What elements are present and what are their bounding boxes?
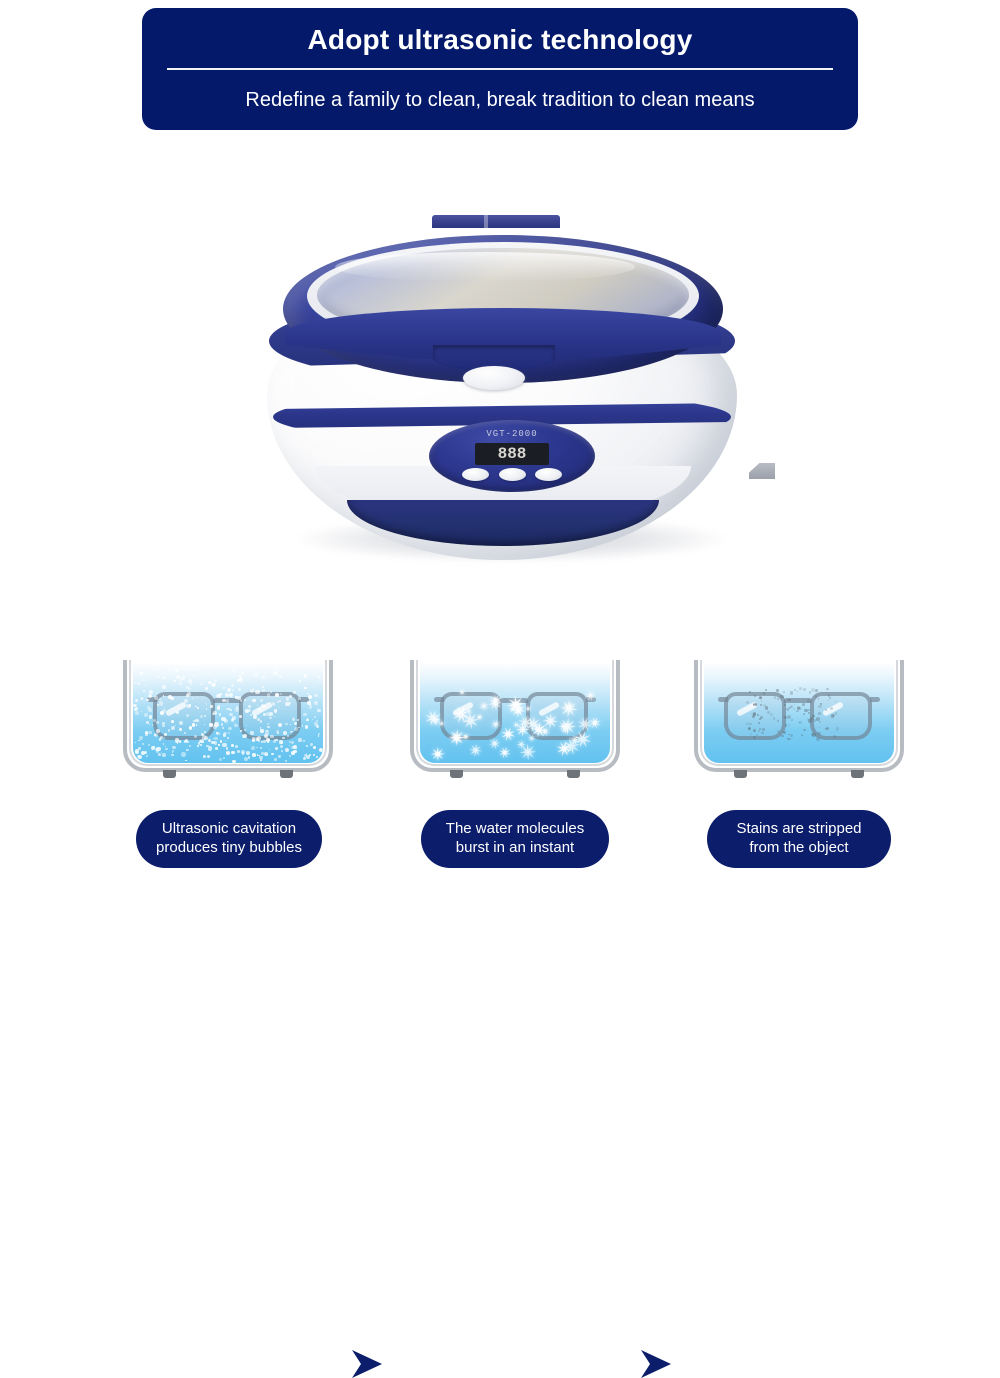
bubble [182, 676, 186, 680]
bubble [304, 674, 308, 678]
bubble [264, 752, 268, 756]
bubble [171, 726, 175, 730]
bubble [250, 714, 252, 716]
bubble [187, 749, 189, 751]
bubble [194, 735, 197, 738]
bubble [257, 705, 259, 707]
bubble [169, 669, 172, 672]
bubble [277, 701, 279, 703]
bubble [226, 751, 230, 755]
bubble [262, 676, 265, 679]
process-illustration-step-2: ✴✴✴✴✴✴✴✴✴✴✴✴✴✴✴✴✴✴✴✴✴✴✴✴✴✴✴✴✴✴✴✴✴✴✴✴✴✴✴✴… [410, 660, 620, 782]
bubble [171, 697, 174, 700]
bubble [171, 754, 173, 756]
panel-button-3[interactable] [535, 468, 562, 481]
bubble [163, 737, 165, 739]
stain-speck [836, 730, 837, 731]
bubble [193, 675, 194, 676]
bubble [165, 746, 166, 747]
stain-speck [794, 689, 796, 691]
bubble [159, 738, 161, 740]
bubble [135, 711, 139, 715]
stain-speck [811, 733, 814, 736]
bubble [200, 715, 203, 718]
stain-speck [808, 719, 811, 722]
bubble [297, 719, 299, 721]
bubble [226, 747, 228, 749]
bubble [253, 715, 257, 719]
stain-speck [755, 704, 756, 705]
stain-speck [753, 736, 756, 739]
control-panel: VGT-2000 888 [429, 420, 595, 492]
bubble [212, 683, 215, 686]
bubble [206, 704, 207, 705]
bubble [252, 699, 255, 702]
bubble [159, 699, 160, 700]
bubble [225, 740, 226, 741]
bubble [313, 686, 314, 687]
bubble [283, 731, 287, 735]
product-image-area: VGT-2000 888 [0, 150, 1000, 620]
tank-feet [694, 770, 904, 780]
bubble [136, 760, 140, 764]
bubble [246, 751, 250, 755]
bubble [235, 696, 238, 699]
sparkle-icon: ✴ [457, 686, 466, 696]
bubble [143, 679, 145, 681]
bubble [135, 699, 138, 702]
bubble [138, 747, 141, 750]
bubble [248, 756, 251, 759]
bubble [179, 740, 181, 742]
bubble [306, 753, 307, 754]
tank-feet [123, 770, 333, 780]
caption-line-2: produces tiny bubbles [156, 839, 302, 856]
bubble [305, 725, 308, 728]
bubble [224, 720, 226, 722]
stain-speck [748, 727, 751, 730]
bubble [275, 747, 278, 750]
bubble [267, 693, 271, 697]
bubble [277, 732, 279, 734]
stain-speck [765, 706, 769, 710]
stain-speck [757, 714, 759, 716]
product-marketing-page: Adopt ultrasonic technology Redefine a f… [0, 0, 1000, 919]
header-banner: Adopt ultrasonic technology Redefine a f… [142, 8, 858, 130]
stain-speck [783, 731, 786, 734]
bubble [278, 707, 279, 708]
model-label: VGT-2000 [429, 429, 595, 439]
tank-foot-right [851, 770, 864, 778]
caption-line-1: Stains are stripped [736, 820, 861, 837]
stain-speck [759, 697, 762, 700]
bubble [214, 722, 218, 726]
bubble [214, 741, 218, 745]
bubble [157, 676, 159, 678]
stain-speck [815, 695, 817, 697]
bubble [141, 697, 143, 699]
panel-button-1[interactable] [462, 468, 489, 481]
bubble [217, 706, 220, 709]
bubble [208, 681, 211, 684]
step-caption-1-text: Ultrasonic cavitation produces tiny bubb… [156, 820, 302, 858]
bubble [254, 673, 258, 677]
bubble [197, 707, 199, 709]
bubble [162, 677, 164, 679]
bubble [175, 738, 179, 742]
bubble [245, 709, 249, 713]
stain-speck [762, 728, 765, 731]
bubble [151, 746, 155, 750]
bubble [227, 737, 229, 739]
stain-speck [776, 689, 779, 692]
bubble [291, 751, 295, 755]
stain-speck [816, 737, 819, 740]
bubble [179, 728, 182, 731]
stain-speck [760, 704, 762, 706]
bubble [269, 717, 272, 720]
bubble [285, 723, 287, 725]
bubble [219, 758, 221, 760]
bubble [252, 753, 256, 757]
bubble [159, 701, 163, 705]
bubble [206, 708, 207, 709]
panel-button-2[interactable] [499, 468, 526, 481]
bubble [314, 722, 318, 726]
stain-speck [787, 709, 789, 711]
bubble [274, 758, 277, 761]
sparkle-icon: ✴ [562, 697, 576, 713]
stain-speck [797, 691, 798, 692]
sparkle-icon: ✴ [582, 685, 600, 704]
stain-speck [815, 689, 818, 692]
bubble [278, 755, 282, 759]
tank-foot-right [280, 770, 293, 778]
bubble [153, 669, 154, 670]
stain-speck [787, 715, 791, 719]
bubble [216, 732, 218, 734]
bubble [171, 720, 174, 723]
bubble [260, 699, 263, 702]
bubble [253, 688, 254, 689]
bubble [189, 745, 191, 747]
bubble [148, 731, 151, 734]
tank-foot-left [734, 770, 747, 778]
bubble [223, 733, 227, 737]
bubble [209, 723, 213, 727]
bubble [266, 712, 270, 716]
bubble [252, 739, 255, 742]
bubble [279, 675, 282, 678]
bubble [162, 685, 166, 689]
bubble [237, 750, 240, 753]
bubble [189, 727, 192, 730]
stain-speck [828, 694, 830, 696]
bubble [256, 747, 257, 748]
stain-speck [773, 717, 776, 720]
stain-speck [830, 707, 833, 710]
stain-speck [835, 701, 836, 702]
stain-speck [746, 701, 749, 704]
bubble [222, 699, 226, 703]
tank-water: ✴✴✴✴✴✴✴✴✴✴✴✴✴✴✴✴✴✴✴✴✴✴✴✴✴✴✴✴✴✴✴✴✴✴✴✴✴✴✴✴… [420, 662, 610, 763]
bubble [228, 732, 230, 734]
bubble [258, 714, 259, 715]
stain-speck [750, 733, 752, 735]
stain-speck [828, 700, 829, 701]
bubble [208, 739, 211, 742]
bubble [220, 693, 223, 696]
tank-water [704, 662, 894, 763]
bubble [232, 669, 235, 672]
caption-line-1: The water molecules [446, 820, 584, 837]
bubble [290, 724, 291, 725]
bubble [285, 748, 289, 752]
bubble [188, 679, 192, 683]
bubble [294, 722, 297, 725]
bubble [289, 695, 292, 698]
bubble [223, 687, 224, 688]
bubble [165, 748, 168, 751]
bubble [145, 685, 147, 687]
bubble [229, 693, 233, 697]
bubble [317, 707, 318, 708]
step-caption-3-text: Stains are stripped from the object [736, 820, 861, 858]
bubble [319, 697, 320, 698]
bubble [232, 716, 236, 720]
bubble [228, 727, 231, 730]
stain-speck [793, 708, 795, 710]
stain-speck [829, 697, 831, 699]
tank-water [133, 662, 323, 763]
bubble [299, 680, 301, 682]
bubble [298, 697, 301, 700]
bubble [227, 688, 231, 692]
bubble [270, 691, 272, 693]
bubble [290, 731, 292, 733]
stain-speck [774, 696, 777, 699]
stain-speck [836, 727, 839, 730]
bubble [314, 701, 317, 704]
stain-speck [826, 688, 828, 690]
bubble [184, 699, 188, 703]
bubble [218, 744, 219, 745]
bubble [163, 743, 164, 744]
bubble [304, 687, 306, 689]
bubble [269, 749, 270, 750]
bubble [287, 735, 289, 737]
stain-speck [821, 692, 822, 693]
bubble [200, 744, 202, 746]
stain-speck [781, 735, 784, 738]
stain-speck [758, 722, 760, 724]
bubble [238, 688, 241, 691]
bubble [289, 745, 290, 746]
bubble [192, 698, 193, 699]
bubble [137, 682, 140, 685]
bubble [244, 699, 246, 701]
bubble [313, 746, 316, 749]
bubble [278, 723, 282, 727]
bubble [164, 733, 167, 736]
stain-speck [749, 691, 750, 692]
stain-speck [791, 706, 792, 707]
bubble [207, 755, 211, 759]
lid-window-gloss [335, 252, 635, 282]
stain-speck [794, 704, 795, 705]
bubble [221, 723, 224, 726]
arrow-right-icon [352, 1350, 382, 1378]
bubble [279, 740, 283, 744]
bubble [285, 702, 289, 706]
bubble [314, 694, 317, 697]
bubble [192, 723, 195, 726]
bubble [259, 756, 263, 760]
bubble [186, 714, 189, 717]
bubble [231, 744, 234, 747]
drain-spout [749, 463, 775, 479]
bubble [148, 744, 151, 747]
stain-speck [749, 723, 751, 725]
process-illustration-step-3 [694, 660, 904, 782]
bubble [146, 699, 148, 701]
stain-speck [810, 717, 812, 719]
bubble [163, 695, 165, 697]
bubble [271, 753, 273, 755]
bubble [160, 711, 164, 715]
bubble [248, 705, 251, 708]
bubble [260, 720, 263, 723]
bubble [200, 739, 204, 743]
stain-speck [826, 727, 829, 730]
tank-foot-right [567, 770, 580, 778]
bubble [134, 682, 136, 684]
bubble [179, 709, 181, 711]
stain-speck [783, 691, 785, 693]
bubble [280, 745, 283, 748]
bubble [164, 707, 165, 708]
bubble [235, 745, 238, 748]
bubble [289, 755, 291, 757]
bubble [204, 724, 205, 725]
stain-speck [820, 703, 821, 704]
bubble [274, 716, 275, 717]
bubble [162, 725, 164, 727]
bubble [272, 702, 276, 706]
bubble [250, 689, 254, 693]
bubble [157, 704, 159, 706]
stain-speck [790, 691, 793, 694]
caption-line-2: from the object [749, 839, 848, 856]
bubble [156, 729, 160, 733]
stain-speck [790, 734, 793, 737]
stain-speck [788, 724, 791, 727]
bubble [152, 724, 153, 725]
bubble [298, 738, 302, 742]
bubble [203, 755, 207, 759]
bubble [280, 693, 282, 695]
stain-speck [789, 699, 791, 701]
bubble [263, 705, 266, 708]
loosened-stains-overlay [704, 662, 894, 763]
bubble [286, 697, 289, 700]
bubble [292, 718, 295, 721]
stain-speck [799, 687, 802, 690]
bubble [260, 729, 263, 732]
arrow-right-icon [641, 1350, 671, 1378]
stain-speck [803, 688, 806, 691]
bubble [318, 735, 320, 737]
bubble [319, 748, 323, 752]
bubble [204, 736, 208, 740]
bubble [303, 740, 305, 742]
stain-speck [818, 705, 821, 708]
bubble [185, 760, 186, 761]
bubble [279, 700, 281, 702]
bubble [200, 683, 202, 685]
bubble [204, 715, 206, 717]
bubble [273, 740, 276, 743]
ultrasonic-cleaner-illustration: VGT-2000 888 [255, 180, 765, 580]
stain-speck [785, 724, 788, 727]
bubble [260, 759, 262, 761]
bubble [196, 690, 197, 691]
bubble [267, 741, 269, 743]
process-steps: ✴✴✴✴✴✴✴✴✴✴✴✴✴✴✴✴✴✴✴✴✴✴✴✴✴✴✴✴✴✴✴✴✴✴✴✴✴✴✴✴… [0, 650, 1000, 790]
step-caption-2-text: The water molecules burst in an instant [446, 820, 584, 858]
stain-speck [754, 695, 756, 697]
stain-speck [804, 709, 807, 712]
bubble [190, 683, 192, 685]
stain-speck [758, 730, 760, 732]
bubble [262, 686, 264, 688]
bubble [306, 745, 308, 747]
bubble [262, 689, 265, 692]
stain-speck [825, 709, 827, 711]
bubble [225, 693, 229, 697]
bubble [156, 721, 159, 724]
bubble [314, 716, 316, 718]
bubble [220, 740, 222, 742]
bubble [214, 737, 217, 740]
stain-speck [808, 709, 810, 711]
bubble [156, 693, 157, 694]
bubble [285, 760, 287, 762]
bubble [282, 737, 285, 740]
stain-speck [803, 713, 805, 715]
stain-speck [803, 729, 806, 732]
tiny-bubbles-overlay [133, 662, 323, 763]
stain-speck [826, 692, 827, 693]
bubble [239, 715, 242, 718]
stain-speck [766, 736, 767, 737]
bubble [274, 709, 277, 712]
caption-line-1: Ultrasonic cavitation [162, 820, 296, 837]
bubble [184, 669, 186, 671]
bubble [181, 752, 185, 756]
stain-speck [819, 721, 821, 723]
bubble [240, 699, 242, 701]
stain-speck [753, 729, 756, 732]
bubble [133, 687, 134, 688]
stain-speck [802, 703, 805, 706]
bubble [317, 709, 321, 713]
bubble [144, 713, 148, 717]
stain-speck [818, 712, 821, 715]
bubble [143, 690, 145, 692]
bubble [260, 747, 262, 749]
bubble [223, 757, 225, 759]
